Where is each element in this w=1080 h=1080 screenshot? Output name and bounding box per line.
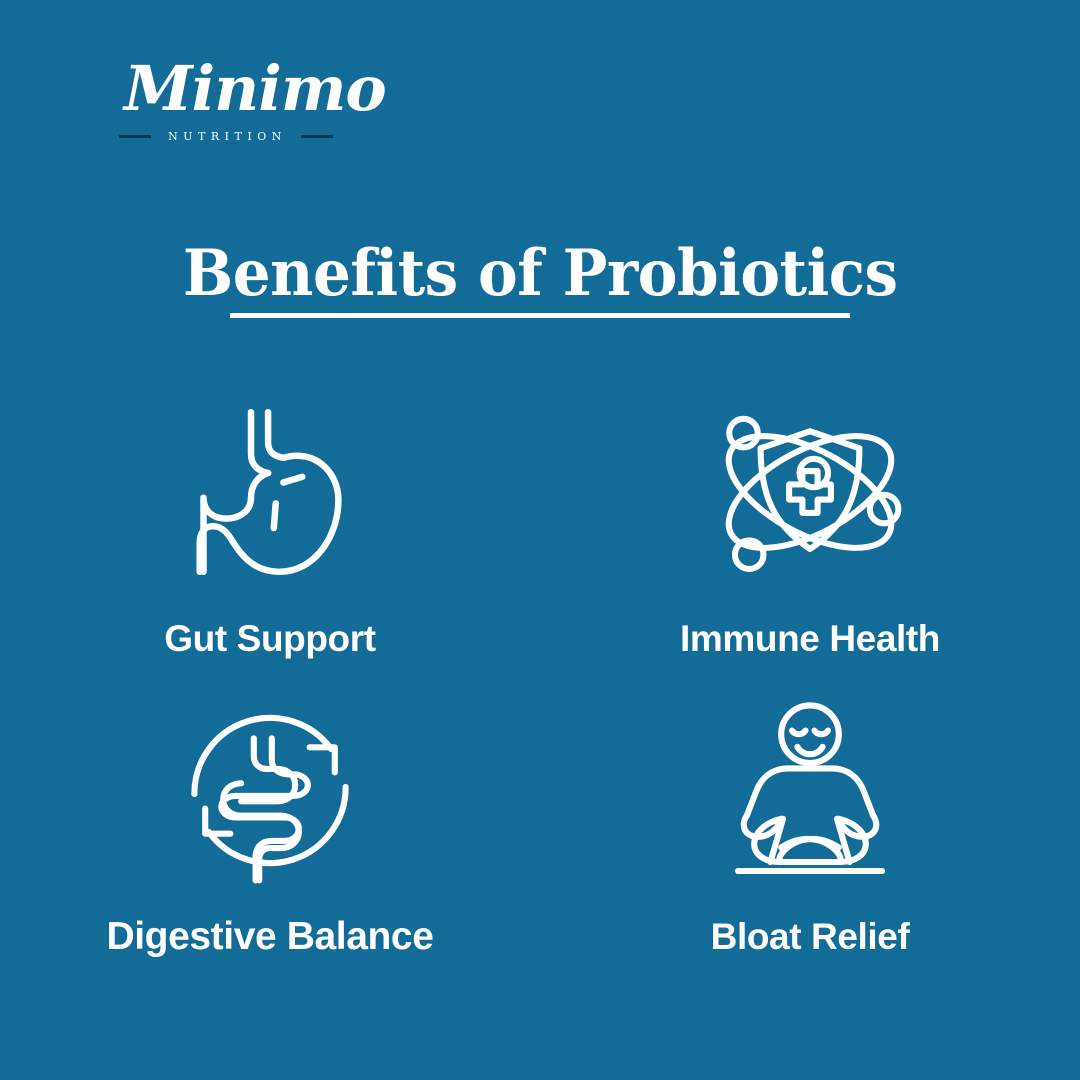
- brand-logo: Minimo NUTRITION: [120, 56, 350, 166]
- title-underline: [230, 313, 850, 318]
- atom-shield-plus-icon: [705, 392, 915, 592]
- benefit-label-bloat-relief: Bloat Relief: [711, 916, 910, 958]
- page-title: Benefits of Probiotics: [179, 238, 901, 310]
- benefit-item-immune-health: Immune Health: [540, 392, 1080, 690]
- benefits-grid: Gut Support Im: [0, 392, 1080, 1032]
- poster-canvas: Minimo NUTRITION Benefits of Probiotics: [0, 0, 1080, 1080]
- benefit-item-digestive-balance: Digestive Balance: [0, 690, 540, 988]
- brand-tagline-row: NUTRITION: [122, 130, 330, 143]
- brand-name: Minimo: [120, 56, 350, 122]
- stomach-icon: [165, 392, 375, 592]
- meditation-lotus-icon: [705, 690, 915, 890]
- logo-rule-right-icon: [301, 135, 333, 138]
- benefit-label-digestive-balance: Digestive Balance: [106, 916, 433, 958]
- page-title-block: Benefits of Probiotics: [0, 238, 1080, 318]
- benefit-label-gut-support: Gut Support: [164, 618, 375, 660]
- brand-tagline: NUTRITION: [165, 130, 287, 143]
- benefit-label-immune-health: Immune Health: [680, 618, 940, 660]
- benefit-item-gut-support: Gut Support: [0, 392, 540, 690]
- benefit-item-bloat-relief: Bloat Relief: [540, 690, 1080, 988]
- logo-rule-left-icon: [119, 135, 151, 138]
- intestine-cycle-icon: [165, 690, 375, 890]
